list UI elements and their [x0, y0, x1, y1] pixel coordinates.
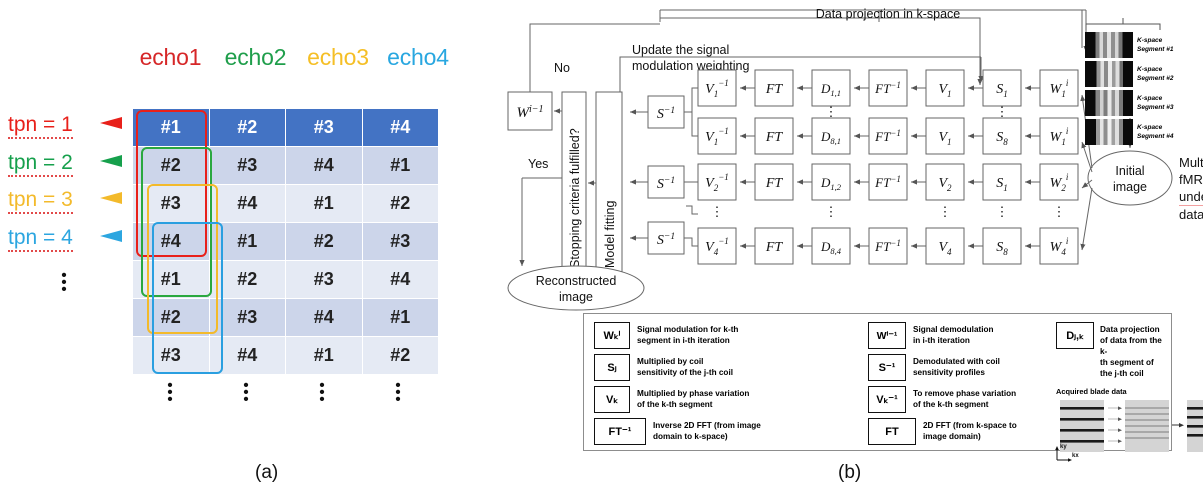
echo-header-2: echo2 — [213, 44, 298, 74]
legend-col-mid: Wⁱ⁻¹ Signal demodulation in i-th iterati… — [868, 322, 1053, 445]
table-cell: #4 — [286, 147, 362, 184]
table-cell: #4 — [133, 223, 209, 260]
svg-text:⋮: ⋮ — [711, 204, 724, 219]
kspace-thumb-1 — [1085, 32, 1133, 58]
legend-symbol-s-inv: S⁻¹ — [868, 354, 906, 381]
kspace-bracket — [1086, 18, 1160, 30]
legend-blade-title: Acquired blade data — [1056, 387, 1166, 396]
legend-entry: Wₖⁱ Signal modulation for k-th segment i… — [594, 322, 869, 349]
table-cell: #1 — [286, 337, 362, 374]
node-reconstructed-line2: image — [559, 290, 593, 304]
node-initial-image — [1088, 151, 1172, 205]
legend-symbol-sj: Sⱼ — [594, 354, 630, 381]
legend-entry: Vₖ⁻¹ To remove phase variation of the k-… — [868, 386, 1053, 413]
legend-symbol-ft: FT — [868, 418, 916, 445]
legend-symbol-wi-inv: Wⁱ⁻¹ — [868, 322, 906, 349]
panel-b-reconstruction-pipeline: Data projection in k-space Update the si… — [500, 0, 1203, 496]
legend-desc: segment in i-th iteration — [637, 335, 738, 346]
annotation-update-signal-line1: Update the signal — [632, 43, 729, 57]
table-cell: #4 — [210, 185, 286, 222]
vertical-ellipsis-tpn: ••• — [52, 272, 76, 293]
svg-text:⋮: ⋮ — [825, 204, 838, 219]
table-cell: #4 — [210, 337, 286, 374]
node-v4-inv-r4 — [698, 228, 736, 264]
legend-desc: Demodulated with coil — [913, 356, 1000, 367]
table-row: #4 #1 #2 #3 — [133, 223, 438, 260]
table-row: #2 #3 #4 #1 — [133, 299, 438, 336]
table-cell: #3 — [133, 337, 209, 374]
axis-label-kx: kx — [1072, 453, 1079, 459]
ellipsis-group-1: ⋮⋮ — [825, 104, 1009, 119]
svg-text:⋮: ⋮ — [939, 204, 952, 219]
kspace-seg-2-line2: Segment #2 — [1137, 74, 1174, 83]
svg-text:FT: FT — [765, 176, 784, 191]
data-caption-line4: data — [1179, 206, 1203, 223]
table-cell: #1 — [133, 109, 209, 146]
annotation-data-projection: Data projection in k-space — [816, 7, 961, 21]
table-cell: #1 — [286, 185, 362, 222]
data-caption-line2: fMRI — [1179, 171, 1203, 188]
legend-desc: To remove phase variation — [913, 388, 1016, 399]
table-cell: #1 — [363, 147, 439, 184]
table-cell: #2 — [363, 337, 439, 374]
node-stopping-criteria-label: Stopping criteria fulfilled? — [568, 128, 582, 268]
node-v2-inv-r3 — [698, 164, 736, 200]
table-cell: #3 — [363, 223, 439, 260]
legend-desc: Data projection of data from the k- — [1100, 324, 1166, 357]
kspace-thumb-2 — [1085, 61, 1133, 87]
kspace-segment-item: K-space Segment #2 — [1085, 61, 1203, 87]
svg-text:FT: FT — [765, 82, 784, 97]
panel-a-acquisition-scheme: echo1 echo2 echo3 echo4 tpn = 1 tpn = 2 … — [0, 0, 500, 496]
table-cell: #3 — [210, 147, 286, 184]
legend-desc: in i-th iteration — [913, 335, 994, 346]
table-cell: #3 — [286, 109, 362, 146]
table-row: #1 #2 #3 #4 — [133, 261, 438, 298]
svg-text:⋮: ⋮ — [1053, 204, 1066, 219]
legend-col-right: Dⱼ,ₖ Data projection of data from the k-… — [1056, 322, 1166, 478]
data-caption-line3: undersampled — [1179, 188, 1203, 206]
kspace-segment-item: K-space Segment #4 — [1085, 119, 1203, 145]
node-v1-inv-r2 — [698, 118, 736, 154]
table-cell: #3 — [286, 261, 362, 298]
table-cell: #1 — [133, 261, 209, 298]
legend-desc: Multiplied by phase variation — [637, 388, 749, 399]
table-row: #3 #4 #1 #2 — [133, 185, 438, 222]
legend-symbol-vk: Vₖ — [594, 386, 630, 413]
legend-entry: FT 2D FFT (from k-space to image domain) — [868, 418, 1053, 445]
kspace-seg-4-line2: Segment #4 — [1137, 132, 1174, 141]
axis-label-ky: ky — [1060, 444, 1067, 450]
echo-header-3: echo3 — [298, 44, 378, 74]
echo-header-4: echo4 — [378, 44, 458, 74]
table-cell: #4 — [286, 299, 362, 336]
table-cell: #2 — [210, 109, 286, 146]
kspace-seg-4-line1: K-space — [1137, 123, 1174, 132]
table-cell: #2 — [363, 185, 439, 222]
chain-row2: V1−1 FT D8,1 FT−1 V1 S8 W1i — [698, 118, 1078, 154]
legend-desc: Multiplied by coil — [637, 356, 733, 367]
legend-desc: sensitivity profiles — [913, 367, 1000, 378]
blade-data-diagram: ky kx — [1054, 398, 1203, 473]
legend-symbol-wki: Wₖⁱ — [594, 322, 630, 349]
vertical-ellipsis-col2: ••• — [234, 382, 258, 403]
ellipsis-group-2: ⋮⋮ ⋮⋮ ⋮ — [711, 204, 1066, 219]
table-cell: #4 — [363, 261, 439, 298]
table-cell: #2 — [133, 299, 209, 336]
panel-a-label: (a) — [255, 462, 278, 484]
node-model-fitting-label: Model fitting — [603, 201, 617, 268]
data-caption-line1: Multi-echo — [1179, 154, 1203, 171]
kspace-seg-3-line2: Segment #3 — [1137, 103, 1174, 112]
legend-entry: Vₖ Multiplied by phase variation of the … — [594, 386, 869, 413]
legend-desc: 2D FFT (from k-space to — [923, 420, 1017, 431]
legend-desc: Signal modulation for k-th — [637, 324, 738, 335]
table-cell: #4 — [363, 109, 439, 146]
table-row: #2 #3 #4 #1 — [133, 147, 438, 184]
acquisition-table: #1 #2 #3 #4 #2 #3 #4 #1 #3 #4 #1 #2 #4 #… — [132, 108, 439, 375]
legend-entry: FT⁻¹ Inverse 2D FFT (from image domain t… — [594, 418, 869, 445]
legend-desc: of the k-th segment — [913, 399, 1016, 410]
chain-row3: V2−1 FT D1,2 FT−1 V2 S1 W2i — [698, 164, 1078, 200]
legend-desc: Inverse 2D FFT (from image — [653, 420, 761, 431]
table-cell: #1 — [363, 299, 439, 336]
legend-entry: Wⁱ⁻¹ Signal demodulation in i-th iterati… — [868, 322, 1053, 349]
table-row: #3 #4 #1 #2 — [133, 337, 438, 374]
svg-text:⋮: ⋮ — [996, 104, 1009, 119]
vertical-ellipsis-col4: ••• — [386, 382, 410, 403]
table-cell: #2 — [286, 223, 362, 260]
tpn-label-3-text: tpn = 3 — [8, 188, 73, 214]
legend-symbol-vk-inv: Vₖ⁻¹ — [868, 386, 906, 413]
kspace-seg-1-line1: K-space — [1137, 36, 1174, 45]
svg-text:FT: FT — [765, 240, 784, 255]
tpn-label-1-text: tpn = 1 — [8, 113, 73, 139]
legend-symbol-ft-inv: FT⁻¹ — [594, 418, 646, 445]
table-cell: #3 — [133, 185, 209, 222]
legend-desc: image domain) — [923, 431, 1017, 442]
table-cell: #3 — [210, 299, 286, 336]
vertical-ellipsis-col3: ••• — [310, 382, 334, 403]
table-cell: #1 — [210, 223, 286, 260]
annotation-no: No — [554, 61, 570, 75]
node-reconstructed-line1: Reconstructed — [536, 274, 617, 288]
kspace-seg-3-line1: K-space — [1137, 94, 1174, 103]
kspace-thumb-4 — [1085, 119, 1133, 145]
chain-row1: V1−1 FT D1,1 FT−1 V1 S1 W1i — [698, 70, 1078, 106]
table-cell: #2 — [210, 261, 286, 298]
legend-col-left: Wₖⁱ Signal modulation for k-th segment i… — [594, 322, 869, 445]
legend-box: Wₖⁱ Signal modulation for k-th segment i… — [583, 313, 1172, 451]
kspace-segment-item: K-space Segment #3 — [1085, 90, 1203, 116]
kspace-thumb-3 — [1085, 90, 1133, 116]
table-header-row: #1 #2 #3 #4 — [133, 109, 438, 146]
kspace-segment-item: K-space Segment #1 — [1085, 32, 1203, 58]
legend-desc: of the k-th segment — [637, 399, 749, 410]
node-initial-line2: image — [1113, 180, 1147, 194]
tpn-label-2-text: tpn = 2 — [8, 151, 73, 177]
legend-entry: Sⱼ Multiplied by coil sensitivity of the… — [594, 354, 869, 381]
legend-entry: Dⱼ,ₖ Data projection of data from the k-… — [1056, 322, 1166, 379]
figure-root: echo1 echo2 echo3 echo4 tpn = 1 tpn = 2 … — [0, 0, 1203, 496]
annotation-yes: Yes — [528, 157, 548, 171]
svg-text:⋮: ⋮ — [825, 104, 838, 119]
svg-text:⋮: ⋮ — [996, 204, 1009, 219]
legend-desc: sensitivity of the j-th coil — [637, 367, 733, 378]
legend-desc: domain to k-space) — [653, 431, 761, 442]
panel-b-label: (b) — [838, 462, 861, 484]
chain-row4: V4−1 FT D8,4 FT−1 V4 S8 W4i — [698, 228, 1078, 264]
legend-entry: S⁻¹ Demodulated with coil sensitivity pr… — [868, 354, 1053, 381]
legend-desc: Signal demodulation — [913, 324, 994, 335]
kspace-segment-list: K-space Segment #1 K-space Segment #2 K-… — [1085, 32, 1203, 145]
vertical-ellipsis-col1: ••• — [158, 382, 182, 403]
legend-symbol-djk: Dⱼ,ₖ — [1056, 322, 1094, 349]
echo-header-1: echo1 — [128, 44, 213, 74]
kspace-seg-1-line2: Segment #1 — [1137, 45, 1174, 54]
tpn-label-4-text: tpn = 4 — [8, 226, 73, 252]
node-v1-inv-r1 — [698, 70, 736, 106]
data-caption: Multi-echo fMRI undersampled data — [1179, 154, 1203, 223]
kspace-seg-2-line1: K-space — [1137, 65, 1174, 74]
legend-desc: th segment of the j-th coil — [1100, 357, 1166, 379]
svg-text:FT: FT — [765, 130, 784, 145]
table-cell: #2 — [133, 147, 209, 184]
node-initial-line1: Initial — [1115, 164, 1144, 178]
